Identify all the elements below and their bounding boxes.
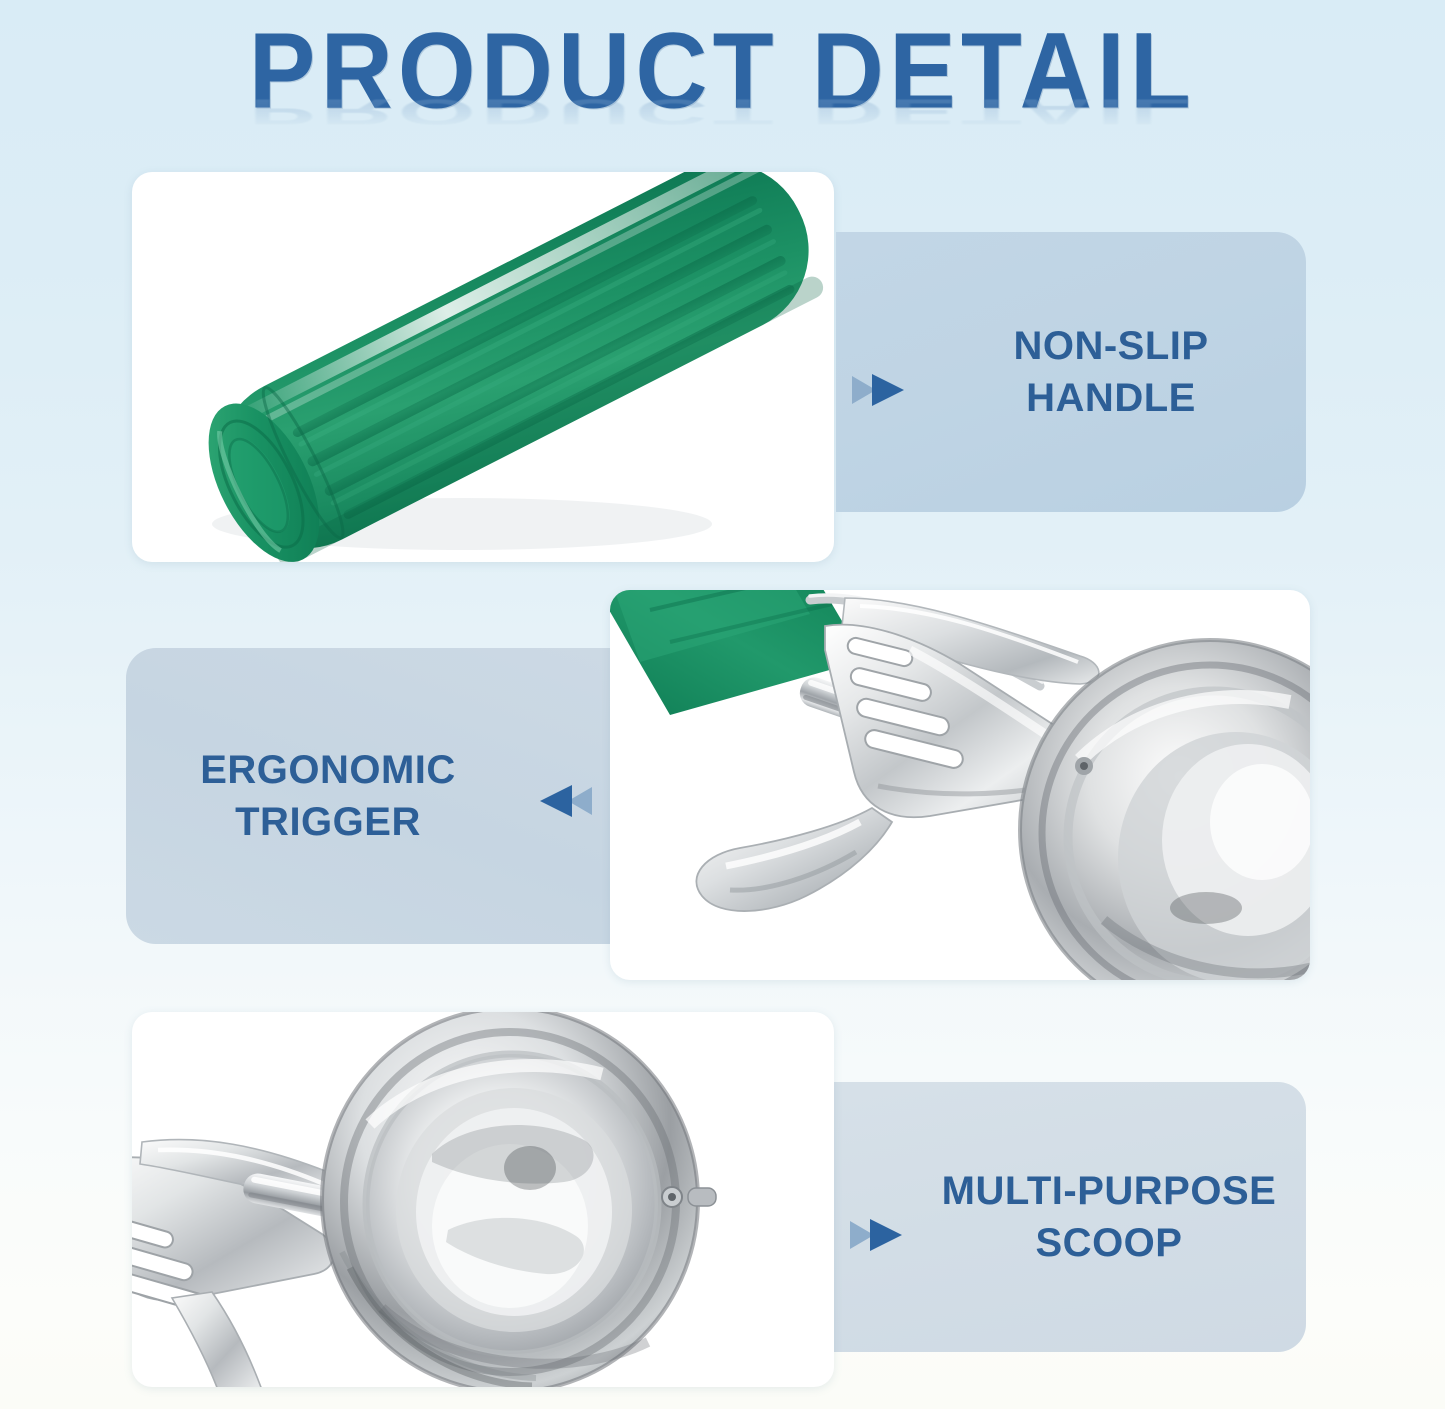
feature-label-text: MULTI-PURPOSE SCOOP (912, 1165, 1306, 1269)
feature-label-text: ERGONOMIC TRIGGER (126, 744, 530, 848)
feature-photo-ergonomic-trigger (610, 590, 1310, 980)
feature-label-ergonomic-trigger: ERGONOMIC TRIGGER (126, 648, 610, 944)
green-ribbed-handle-image (132, 172, 834, 562)
double-chevron-right-icon (848, 1215, 910, 1255)
feature-photo-multi-purpose-scoop (132, 1012, 834, 1387)
slotted-trigger-mechanism-image (610, 590, 1310, 980)
stainless-scoop-bowl-topdown-image (132, 1012, 834, 1387)
double-chevron-right-icon (850, 370, 912, 410)
feature-label-text: NON-SLIP HANDLE (916, 320, 1306, 424)
product-detail-infographic: PRODUCT DETAIL PRODUCT DETAIL (0, 0, 1445, 1409)
page-title-text: PRODUCT DETAIL (249, 18, 1196, 126)
double-chevron-left-icon (532, 781, 594, 821)
feature-label-non-slip-handle: NON-SLIP HANDLE (836, 232, 1306, 512)
page-title: PRODUCT DETAIL PRODUCT DETAIL (0, 18, 1445, 158)
feature-label-multi-purpose-scoop: MULTI-PURPOSE SCOOP (834, 1082, 1306, 1352)
feature-photo-non-slip-handle (132, 172, 834, 562)
